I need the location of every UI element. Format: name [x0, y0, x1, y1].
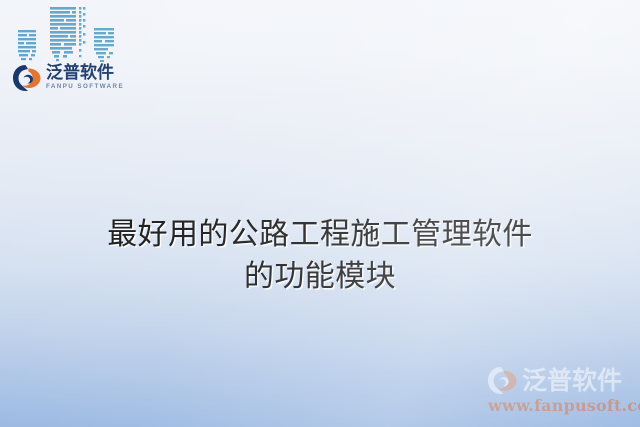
brand-name-en: FANPU SOFTWARE [46, 84, 124, 90]
title-line-2: 的功能模块 [0, 256, 640, 298]
watermark-name-cn: 泛普软件 [522, 368, 622, 393]
watermark-logo: 泛普软件 [486, 365, 638, 395]
title-line-1: 最好用的公路工程施工管理软件 [0, 214, 640, 256]
watermark: 泛普软件 www.fanpusoft.com [486, 365, 638, 417]
fanpu-swoosh-logo-icon [486, 366, 519, 395]
brand-name-cn: 泛普软件 [46, 65, 124, 82]
brand-words: 泛普软件 FANPU SOFTWARE [46, 65, 124, 90]
presentation-slide: 泛普软件 FANPU SOFTWARE 最好用的公路工程施工管理软件 的功能模块… [0, 0, 640, 427]
slide-title: 最好用的公路工程施工管理软件 的功能模块 [0, 214, 640, 298]
brand-logo: 泛普软件 FANPU SOFTWARE [12, 64, 124, 92]
watermark-url: www.fanpusoft.com [486, 396, 638, 415]
pixel-cityscape-icon [16, 2, 124, 64]
fanpu-swoosh-logo-icon [12, 64, 42, 92]
header-brand-block: 泛普软件 FANPU SOFTWARE [8, 0, 133, 104]
